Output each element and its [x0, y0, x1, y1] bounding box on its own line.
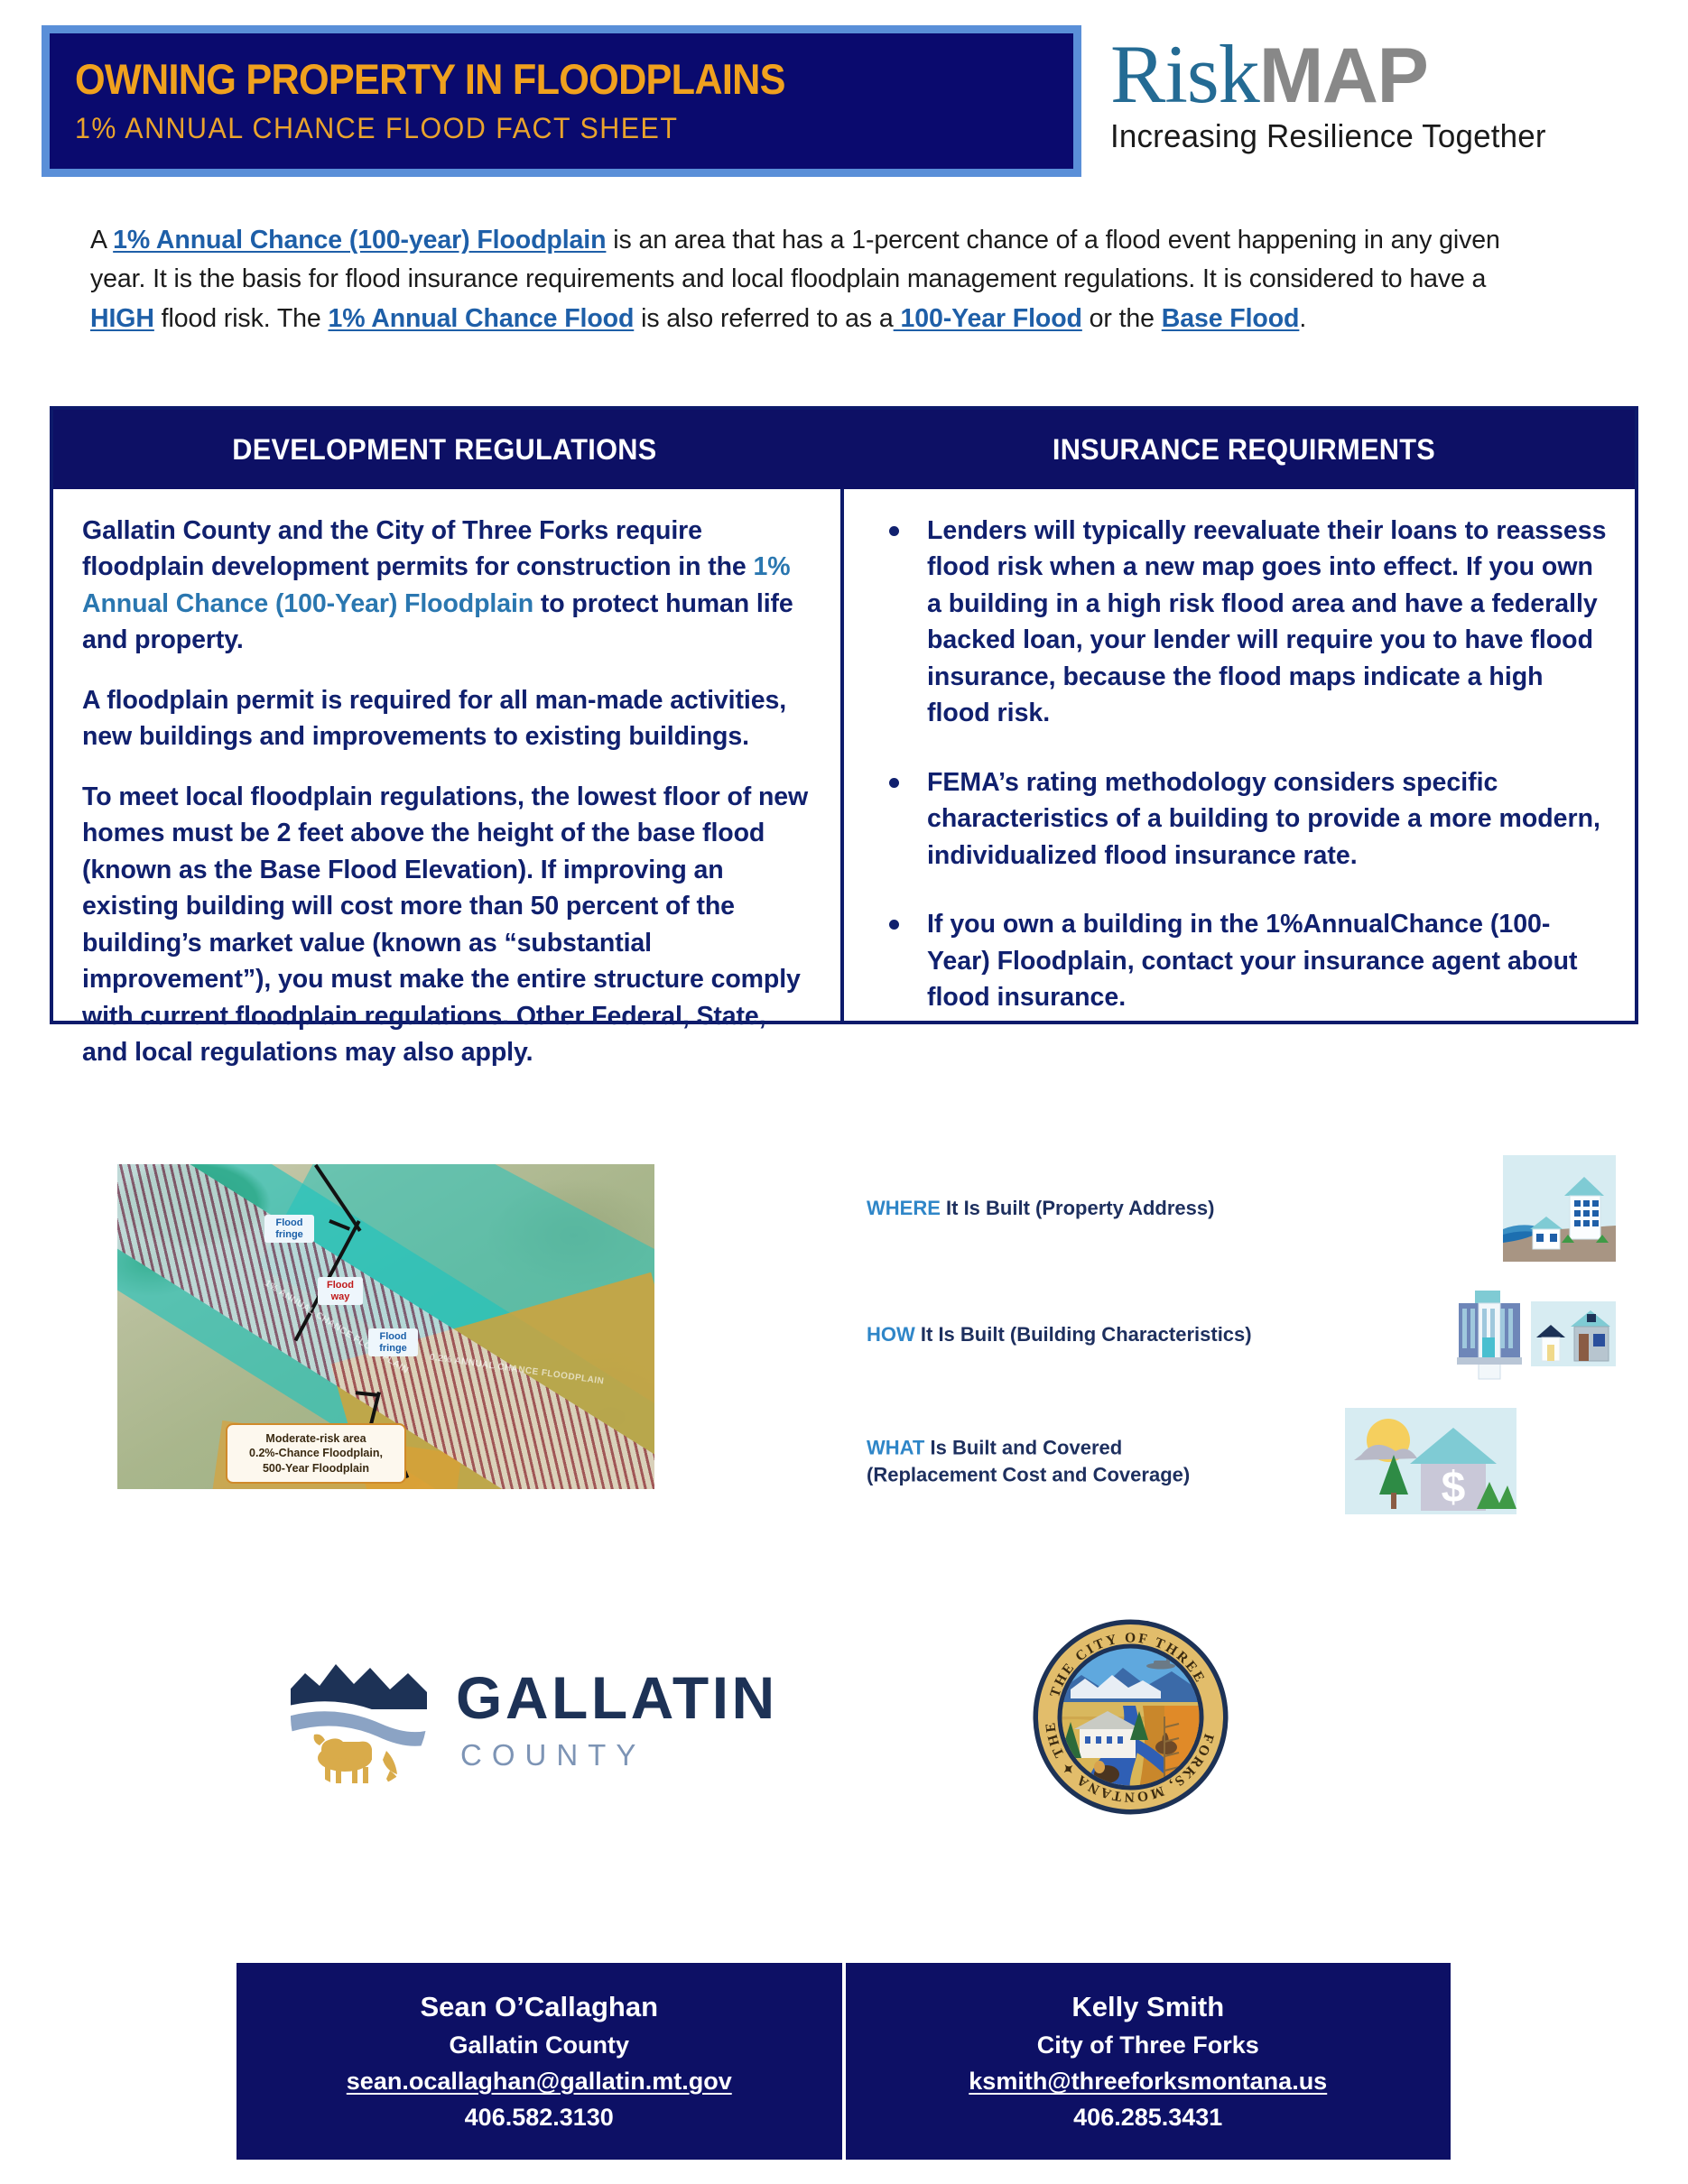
section-header-row: DEVELOPMENT REGULATIONS INSURANCE REQUIR…	[53, 410, 1635, 489]
floodplain-map-image: 1% ANNUAL CHANCE FLOODPLAIN 0.2% ANNUAL …	[117, 1164, 654, 1489]
rating-factors-graphic: WHERE It Is Built (Property Address)	[867, 1155, 1616, 1534]
map-label-line-2: way	[331, 1291, 350, 1302]
page-title: OWNING PROPERTY IN FLOODPLAINS	[75, 57, 994, 101]
riskmap-tagline: Increasing Resilience Together	[1110, 117, 1636, 155]
where-scene-icon	[1503, 1155, 1616, 1262]
intro-paragraph: A 1% Annual Chance (100-year) Floodplain…	[90, 221, 1553, 338]
rating-factor-key: HOW	[867, 1323, 915, 1346]
legend-line-1: Moderate-risk area	[231, 1431, 401, 1447]
section-body-row: Gallatin County and the City of Three Fo…	[53, 489, 1635, 1021]
riskmap-map-text: MAP	[1259, 32, 1428, 119]
map-label-line-1: Flood	[380, 1331, 407, 1342]
rating-factor-key: WHAT	[867, 1436, 924, 1458]
rating-factor-how: HOW It Is Built (Building Characteristic…	[867, 1282, 1616, 1388]
list-item: Lenders will typically reevaluate their …	[876, 513, 1609, 732]
how-scene-icon	[1453, 1282, 1616, 1388]
rating-factor-label: WHERE It Is Built (Property Address)	[867, 1195, 1214, 1222]
link-100-year-flood[interactable]: 100-Year Flood	[894, 304, 1082, 333]
rating-factor-where: WHERE It Is Built (Property Address)	[867, 1155, 1616, 1262]
legend-line-3: 500-Year Floodplain	[231, 1461, 401, 1476]
development-paragraph-1: Gallatin County and the City of Three Fo…	[82, 513, 815, 659]
gallatin-county-logo: GALLATIN COUNTY	[280, 1643, 821, 1805]
rating-factor-line2: (Replacement Cost and Coverage)	[867, 1461, 1190, 1488]
legend-line-2: 0.2%-Chance Floodplain,	[231, 1446, 401, 1461]
map-label-line-2: fringe	[275, 1229, 303, 1240]
contact-card-three-forks: Kelly Smith City of Three Forks ksmith@t…	[842, 1963, 1451, 2160]
svg-text:$: $	[1442, 1464, 1466, 1512]
link-100-year-floodplain[interactable]: 1% Annual Chance (100-year) Floodplain	[113, 226, 606, 254]
development-text: Gallatin County and the City of Three Fo…	[82, 513, 815, 1071]
contact-footer: Sean O’Callaghan Gallatin County sean.oc…	[237, 1963, 1451, 2160]
gallatin-name: GALLATIN	[456, 1668, 778, 1727]
link-high[interactable]: HIGH	[90, 304, 154, 333]
contact-name: Kelly Smith	[1071, 1991, 1224, 2023]
contact-name: Sean O’Callaghan	[420, 1991, 658, 2023]
riskmap-risk-text: Risk	[1110, 28, 1259, 120]
intro-text-5: or the	[1082, 304, 1162, 333]
intro-text-3: flood risk. The	[154, 304, 329, 333]
section-header-development: DEVELOPMENT REGULATIONS	[70, 410, 838, 489]
map-legend-moderate-risk: Moderate-risk area 0.2%-Chance Floodplai…	[226, 1423, 406, 1485]
development-column: Gallatin County and the City of Three Fo…	[53, 489, 840, 1021]
rating-factor-key: WHERE	[867, 1197, 941, 1219]
section-header-insurance: INSURANCE REQUIRMENTS	[868, 410, 1618, 489]
riskmap-logo: RiskMAP Increasing Resilience Together	[1110, 32, 1652, 155]
what-illustration: $	[1345, 1408, 1516, 1519]
rating-factor-rest: It Is Built (Building Characteristics)	[921, 1323, 1252, 1346]
link-1pct-annual-chance-flood[interactable]: 1% Annual Chance Flood	[328, 304, 634, 333]
rating-factor-rest: It Is Built (Property Address)	[946, 1197, 1214, 1219]
where-illustration	[1503, 1155, 1616, 1262]
fact-sheet-page: OWNING PROPERTY IN FLOODPLAINS 1% ANNUAL…	[0, 0, 1688, 2184]
contact-org: Gallatin County	[449, 2031, 629, 2059]
gallatin-sub: COUNTY	[460, 1738, 778, 1772]
development-paragraph-2: A floodplain permit is required for all …	[82, 682, 815, 755]
header-banner: OWNING PROPERTY IN FLOODPLAINS 1% ANNUAL…	[42, 25, 1081, 177]
gallatin-emblem-icon	[280, 1643, 438, 1800]
contact-email-link[interactable]: sean.ocallaghan@gallatin.mt.gov	[347, 2068, 732, 2096]
what-scene-icon: $	[1345, 1408, 1516, 1514]
contact-email-link[interactable]: ksmith@threeforksmontana.us	[969, 2068, 1327, 2096]
map-label-flood-fringe-bottom: Flood fringe	[368, 1328, 418, 1356]
intro-text-1: A	[90, 226, 113, 254]
contact-phone: 406.582.3130	[465, 2104, 614, 2132]
contact-org: City of Three Forks	[1037, 2031, 1259, 2059]
intro-text-6: .	[1299, 304, 1306, 333]
list-item: If you own a building in the 1%AnnualCha…	[876, 906, 1609, 1015]
insurance-bullet-list: Lenders will typically reevaluate their …	[876, 513, 1609, 1016]
insurance-column: Lenders will typically reevaluate their …	[840, 489, 1635, 1021]
dev-p1-a: Gallatin County and the City of Three Fo…	[82, 516, 753, 581]
map-label-line-2: fringe	[379, 1343, 407, 1354]
map-label-flood-fringe-top: Flood fringe	[264, 1215, 314, 1243]
map-label-line-1: Flood	[276, 1217, 303, 1228]
map-label-floodway: Flood way	[318, 1277, 363, 1305]
page-subtitle: 1% ANNUAL CHANCE FLOOD FACT SHEET	[75, 112, 1024, 145]
three-forks-city-seal: THE CITY OF THREE FORKS, MONTANA ✦ THE G…	[1029, 1615, 1232, 1818]
rating-factor-rest: Is Built and Covered	[930, 1436, 1122, 1458]
rating-factor-label: HOW It Is Built (Building Characteristic…	[867, 1321, 1252, 1348]
rating-factor-what: WHAT Is Built and Covered (Replacement C…	[867, 1408, 1616, 1514]
how-illustration	[1453, 1282, 1616, 1393]
main-content-box: DEVELOPMENT REGULATIONS INSURANCE REQUIR…	[50, 406, 1638, 1024]
gallatin-wordmark: GALLATIN COUNTY	[456, 1668, 778, 1772]
map-label-line-1: Flood	[327, 1280, 354, 1291]
rating-factor-label: WHAT Is Built and Covered (Replacement C…	[867, 1434, 1190, 1487]
riskmap-wordmark: RiskMAP	[1110, 32, 1652, 116]
contact-phone: 406.285.3431	[1073, 2104, 1222, 2132]
contact-card-gallatin: Sean O’Callaghan Gallatin County sean.oc…	[237, 1963, 842, 2160]
list-item: FEMA’s rating methodology considers spec…	[876, 764, 1609, 874]
development-paragraph-3: To meet local floodplain regulations, th…	[82, 779, 815, 1071]
link-base-flood[interactable]: Base Flood	[1162, 304, 1300, 333]
intro-text-4: is also referred to as a	[634, 304, 893, 333]
